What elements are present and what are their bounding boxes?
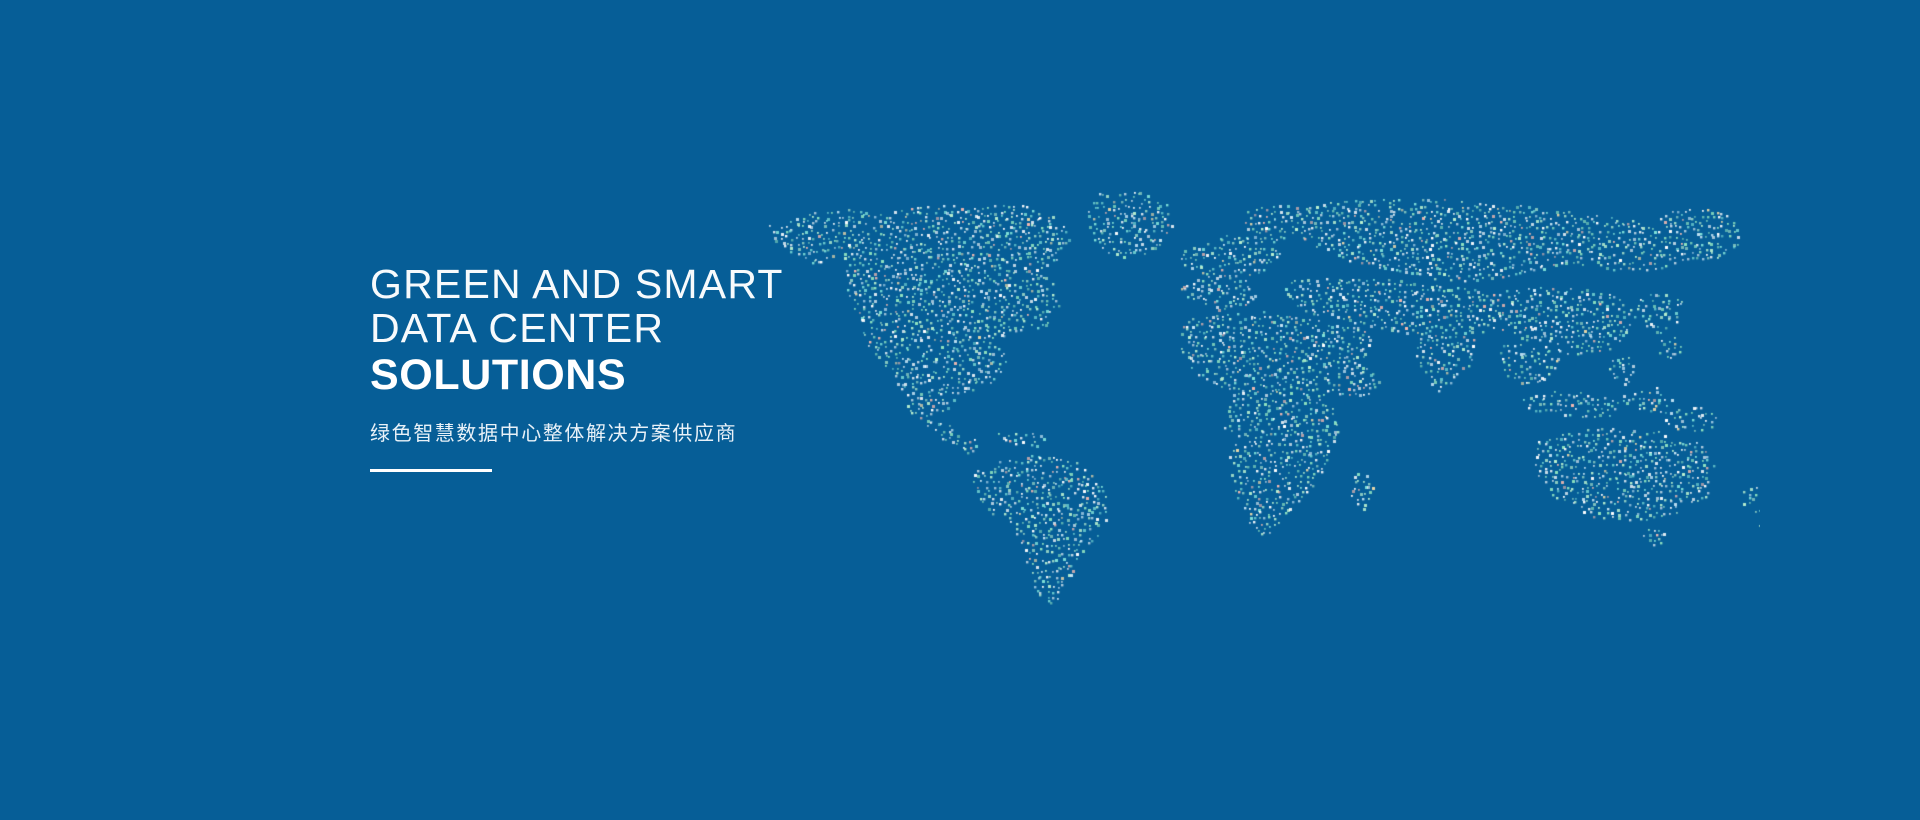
headline-block: GREEN AND SMART DATA CENTER SOLUTIONS 绿色…: [370, 262, 1130, 472]
headline-line-1: GREEN AND SMART: [370, 262, 1130, 306]
headline-divider: [370, 469, 492, 472]
headline-line-3: SOLUTIONS: [370, 350, 1130, 400]
headline-line-2: DATA CENTER: [370, 306, 1130, 350]
headline-subtitle: 绿色智慧数据中心整体解决方案供应商: [370, 417, 1130, 446]
hero-banner: GREEN AND SMART DATA CENTER SOLUTIONS 绿色…: [0, 0, 1920, 820]
